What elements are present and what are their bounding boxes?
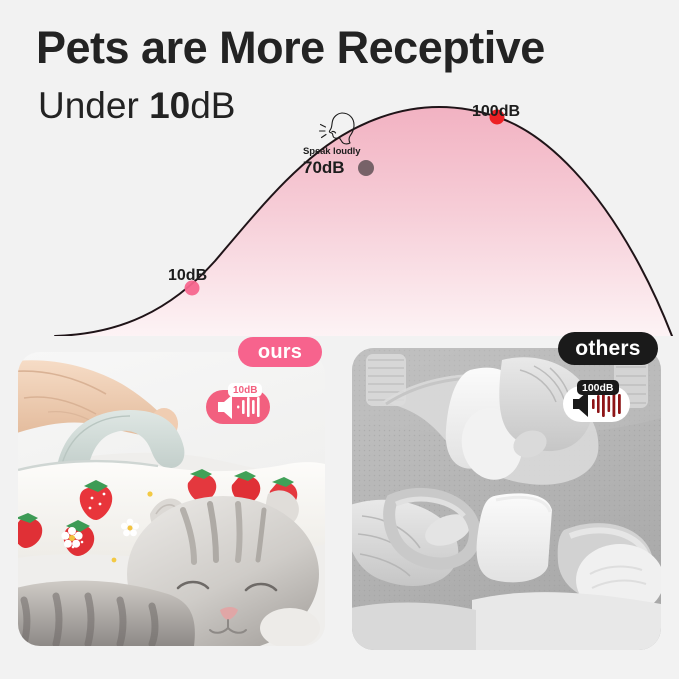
marker-label-10db: 10dB bbox=[168, 267, 207, 285]
badge-others: others bbox=[558, 332, 658, 365]
marker-label-70db: 70dB bbox=[303, 158, 345, 178]
badge-ours: ours bbox=[238, 337, 322, 367]
infographic-canvas: Pets are More Receptive Under 10dB bbox=[0, 0, 679, 679]
marker-dot-70db bbox=[358, 160, 374, 176]
photo-ours bbox=[18, 352, 325, 646]
curve-area-fill bbox=[55, 107, 672, 336]
sound-badge-others-value: 100dB bbox=[577, 380, 619, 395]
page-title: Pets are More Receptive bbox=[36, 24, 545, 71]
sound-badge-ours-value: 10dB bbox=[228, 383, 262, 397]
marker-label-100db: 100dB bbox=[472, 103, 520, 121]
speaking-head-icon bbox=[316, 111, 360, 151]
